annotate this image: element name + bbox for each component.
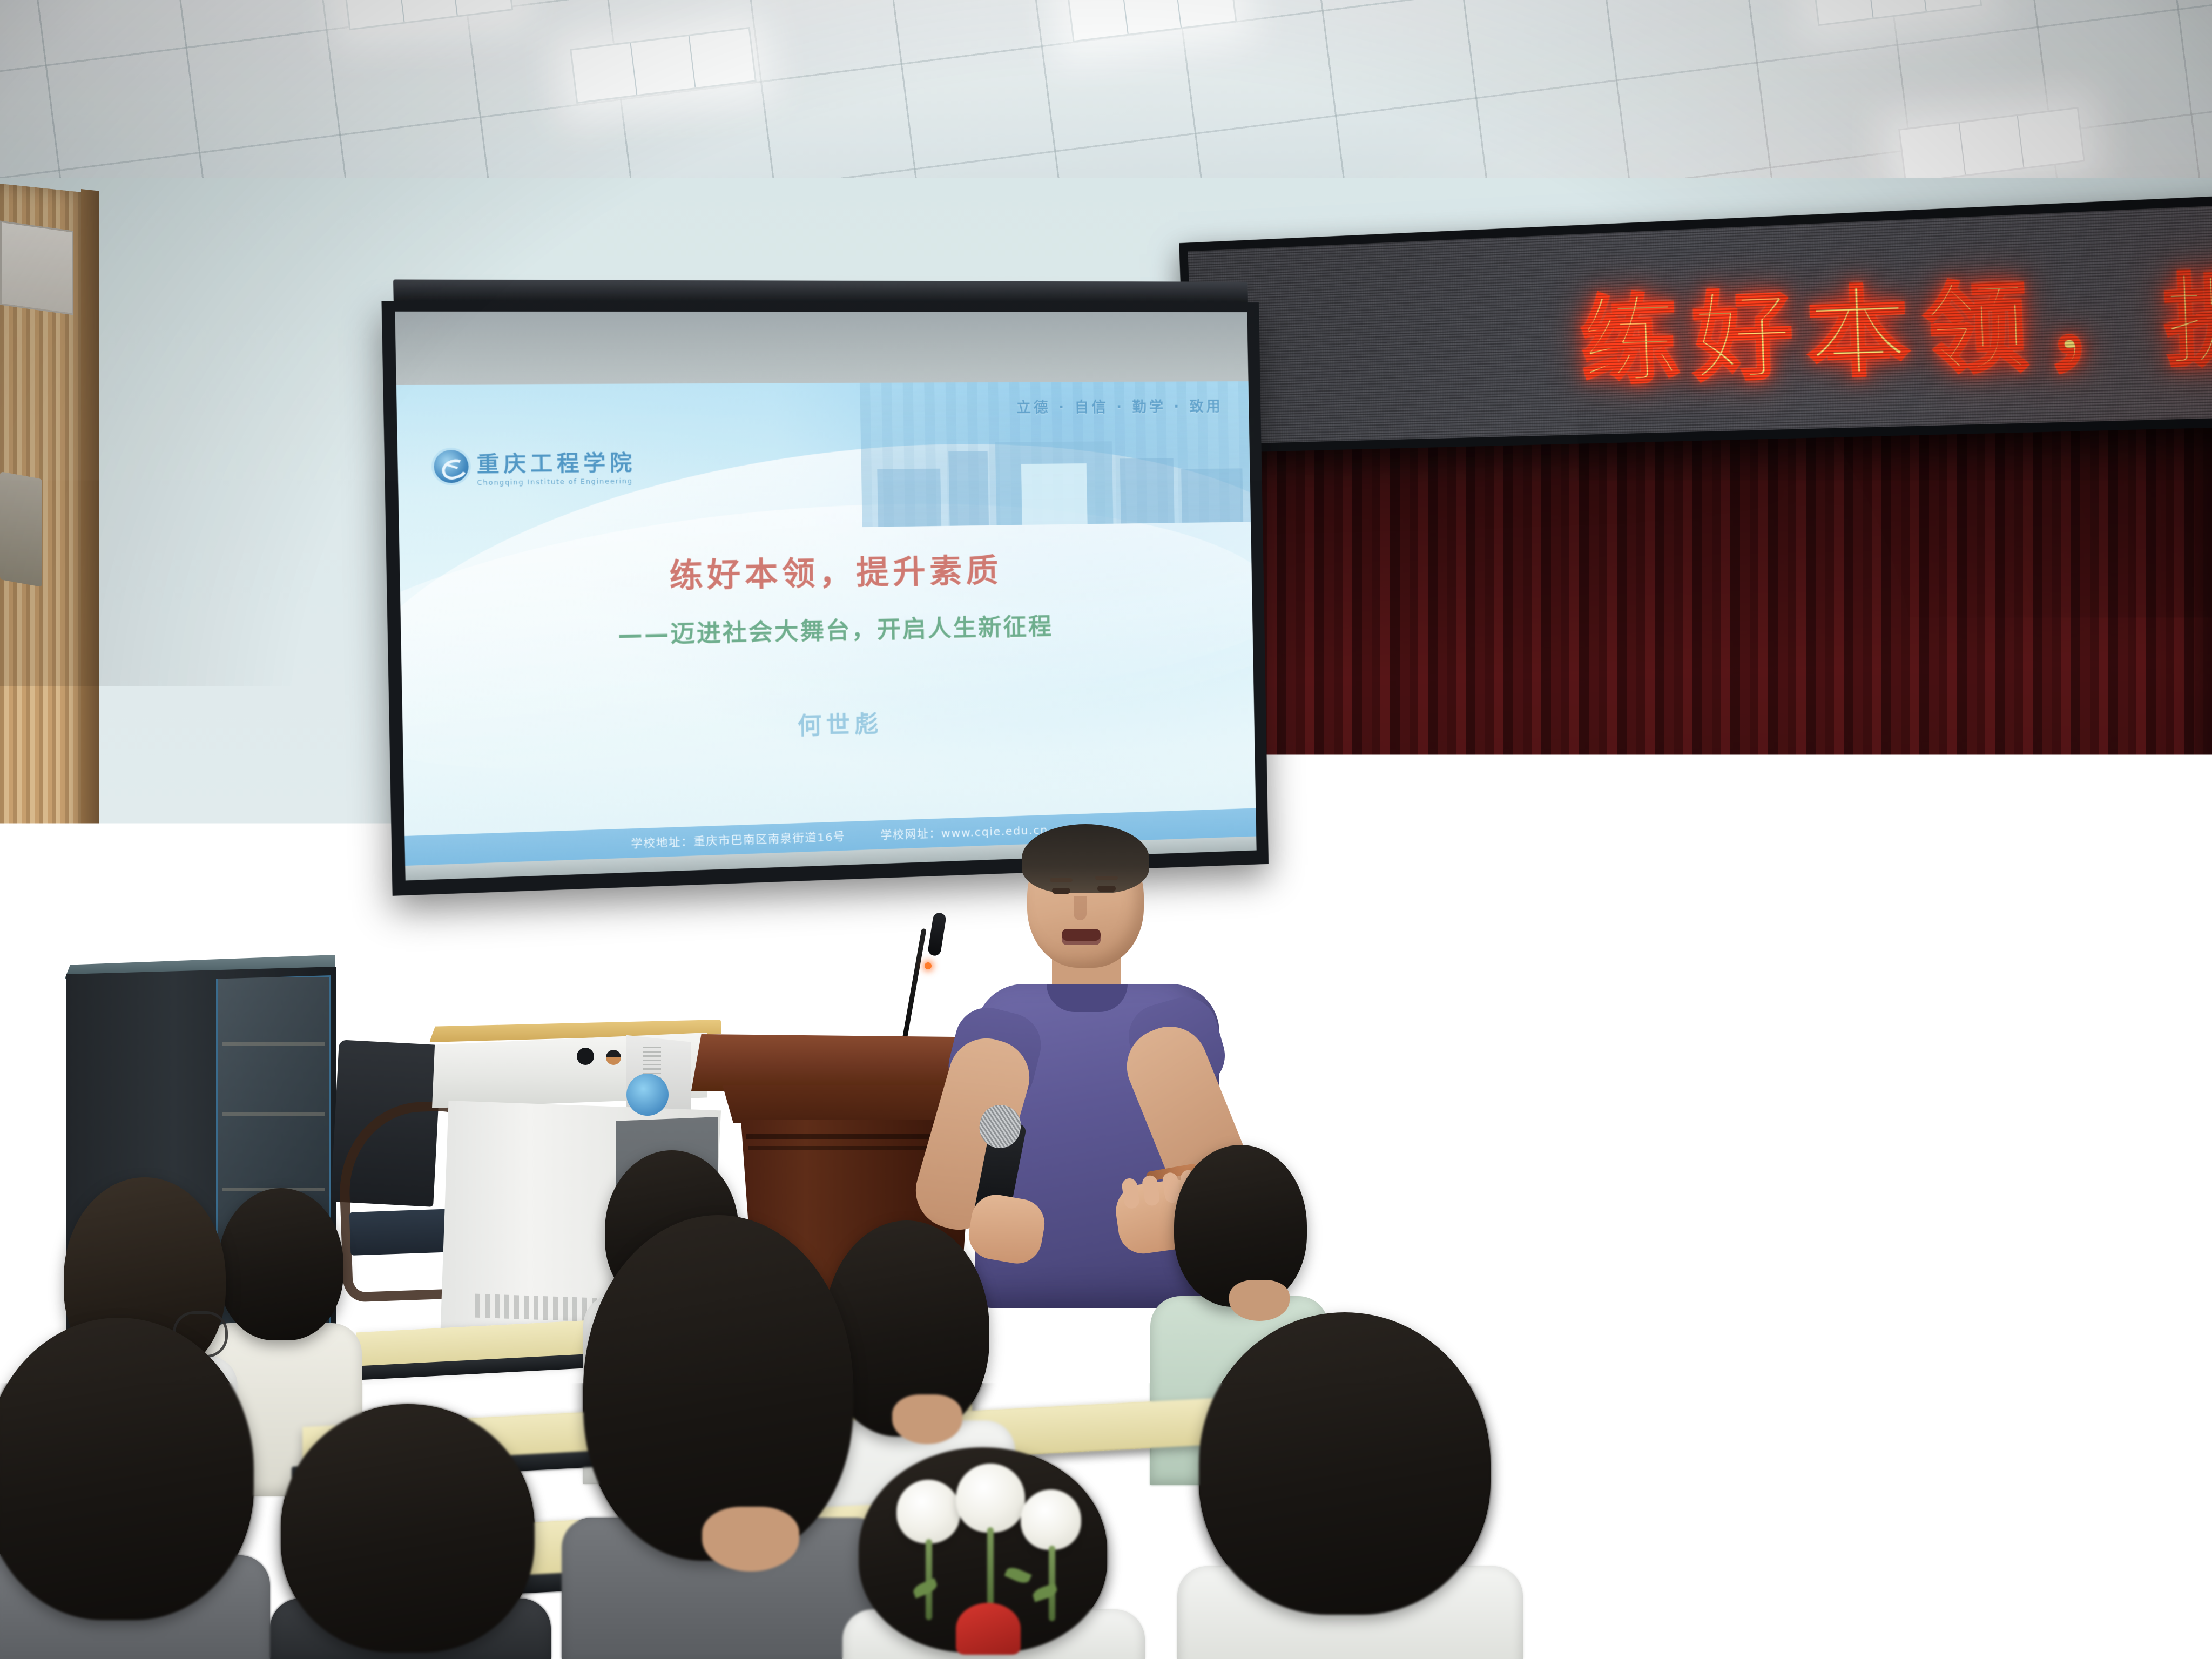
audience-head xyxy=(281,1404,535,1653)
audience-head xyxy=(0,1318,254,1620)
laptop-brand-logo-icon: ✕ xyxy=(1503,1054,1515,1066)
wall-speaker xyxy=(0,471,42,587)
projection-screen: 立德 · 自信 · 勤学 · 致用 重庆工程学院 Chongqing Insti… xyxy=(381,301,1269,896)
audience-member xyxy=(0,1318,270,1659)
audience-member xyxy=(1177,1312,1523,1659)
led-banner-text: 练好本领，提升 xyxy=(1578,232,2212,402)
presenter-mouth xyxy=(1062,929,1101,945)
audience-head xyxy=(1199,1312,1491,1615)
presenter-eyebrow xyxy=(1095,876,1118,880)
slide-school-logo: 重庆工程学院 Chongqing Institute of Engineerin… xyxy=(434,445,637,487)
audience-member xyxy=(1869,1458,2171,1659)
school-name-cn: 重庆工程学院 xyxy=(476,445,636,477)
rose-wrapping-paper xyxy=(956,1603,1021,1655)
audience-nape xyxy=(702,1507,799,1572)
screen-roller-housing xyxy=(393,279,1248,303)
laptop-indicator-led xyxy=(1319,1062,1324,1067)
slide-footer-address: 学校地址：重庆市巴南区南泉街道16号 xyxy=(631,828,846,851)
wall-control-panel[interactable] xyxy=(28,879,81,918)
audience-nape xyxy=(892,1394,962,1444)
slide-motto: 立德 · 自信 · 勤学 · 致用 xyxy=(1016,395,1223,416)
console-knob[interactable] xyxy=(606,1050,621,1065)
presenter-hair xyxy=(1022,824,1149,893)
audience-member xyxy=(1555,1382,1890,1659)
projected-slide: 立德 · 自信 · 勤学 · 致用 重庆工程学院 Chongqing Insti… xyxy=(396,381,1257,880)
presenter-eye xyxy=(1097,886,1116,892)
audience-member xyxy=(562,1215,886,1659)
led-banner-panel: 练好本领，提升 xyxy=(1188,202,2212,444)
presenter-eyebrow xyxy=(1050,878,1073,882)
wall-panel-edge xyxy=(81,189,99,1001)
audience-head xyxy=(1885,1458,2139,1653)
presenter-nose xyxy=(1074,896,1087,920)
microphone-indicator-led xyxy=(925,962,932,969)
screen-top-band xyxy=(395,312,1248,385)
lecture-hall-photo: 练好本领，提升 立德 · 自信 · 勤学 · 致用 重庆工程学 xyxy=(0,0,2212,1659)
school-name-en: Chongqing Institute of Engineering xyxy=(477,477,636,487)
presenter-eye xyxy=(1052,888,1070,894)
console-knob[interactable] xyxy=(577,1048,594,1065)
school-emblem-icon xyxy=(434,450,469,483)
audience-head xyxy=(1577,1382,1858,1636)
audience-member xyxy=(270,1404,551,1659)
air-vent xyxy=(0,220,73,315)
console-brand-logo-icon xyxy=(626,1074,669,1116)
white-roses-bouquet xyxy=(891,1458,1118,1659)
rack-top-device xyxy=(96,939,136,959)
audience-head xyxy=(583,1215,853,1561)
control-panel-screen xyxy=(38,888,71,908)
